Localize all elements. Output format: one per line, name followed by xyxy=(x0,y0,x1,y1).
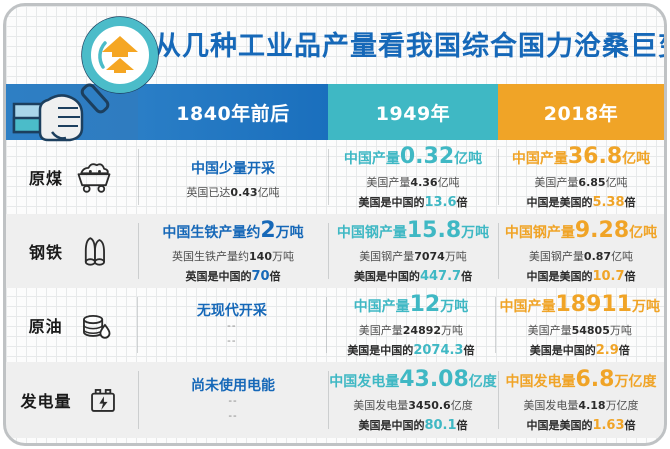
sub-pre: 中国是美国的 xyxy=(526,419,592,432)
sub-number: 6.85 xyxy=(578,176,605,189)
cell-sub-line-2: -- xyxy=(228,409,237,424)
cell-main-label: 中国产量 xyxy=(354,299,410,315)
cell-main-number: 6.8 xyxy=(576,367,615,392)
sub-post: 倍 xyxy=(625,419,636,432)
cell-main-line: 尚未使用电能 xyxy=(191,376,275,394)
cell-sub-line-2: 美国是中国的447.7倍 xyxy=(354,268,472,284)
sub-pre: 美国是中国的 xyxy=(530,344,596,357)
sub-number: 0.43 xyxy=(230,186,257,199)
row-label-cell: 原油 xyxy=(6,288,137,362)
cell-sub-line-1: 英国已达0.43亿吨 xyxy=(186,184,279,200)
page-title: 从几种工业品产量看我国综合国力沧桑巨变 xyxy=(154,24,664,63)
sub-post: 亿度 xyxy=(451,399,473,412)
cell-main-label: 中国少量开采 xyxy=(191,161,275,177)
cell-sub-line-1: 美国发电量3450.6亿度 xyxy=(353,397,472,413)
header-cell-era-2018: 2018年 xyxy=(498,84,664,140)
cell-sub-line-1: 美国产量54805万吨 xyxy=(528,322,632,338)
poster-inner-surface: 从几种工业品产量看我国综合国力沧桑巨变 1840年前后 1949年 2018年 xyxy=(6,6,664,443)
cell-sub-line-2: 中国是美国的1.63倍 xyxy=(526,417,635,433)
cell-main-label: 中国钢产量 xyxy=(337,225,407,241)
cell-sub-line-2: 中国是美国的10.7倍 xyxy=(526,268,635,284)
sub-ratio: 13.6 xyxy=(424,195,456,210)
cell-sub-line-1: -- xyxy=(227,319,236,334)
cell-sub-line-2: -- xyxy=(227,334,236,349)
cell-main-line: 中国生铁产量约2万吨 xyxy=(162,218,303,243)
sub-pre: 英国生铁产量约 xyxy=(172,250,249,263)
sub-pre: 美国钢产量 xyxy=(529,250,584,263)
sub-post: 倍 xyxy=(625,196,636,209)
sub-post: 倍 xyxy=(625,270,636,283)
cell-main-number: 43.08 xyxy=(399,367,469,392)
sub-number: 0.87 xyxy=(584,250,611,263)
cell-1840: 中国少量开采 英国已达0.43亿吨 xyxy=(138,140,328,214)
cell-2018: 中国发电量6.8万亿度 美国发电量4.18万亿度 中国是美国的1.63倍 xyxy=(498,362,664,438)
battery-bolt-icon xyxy=(82,383,124,417)
cell-1840: 中国生铁产量约2万吨 英国生铁产量约140万吨 英国是中国的70倍 xyxy=(138,214,328,288)
sub-pre: 美国产量 xyxy=(528,324,572,337)
cell-main-line: 无现代开采 xyxy=(197,301,267,319)
sub-pre: 美国产量 xyxy=(366,176,410,189)
sub-post: 亿吨 xyxy=(258,186,280,199)
cell-main-unit: 亿度 xyxy=(469,374,497,390)
sub-number: 140 xyxy=(249,250,272,263)
sub-post: 亿吨 xyxy=(606,176,628,189)
row-label-cell: 原煤 xyxy=(6,140,138,214)
sub-post: 万吨 xyxy=(610,324,632,337)
sub-post: 亿吨 xyxy=(438,176,460,189)
sub-pre: 美国是中国的 xyxy=(358,419,424,432)
cell-1840: 无现代开采 -- -- xyxy=(137,288,326,362)
cell-main-label: 中国产量 xyxy=(344,151,400,167)
cell-sub-line-1: 美国钢产量0.87亿吨 xyxy=(529,248,633,264)
cell-1949: 中国发电量43.08亿度 美国发电量3450.6亿度 美国是中国的80.1倍 xyxy=(328,362,498,438)
cell-main-number: 2 xyxy=(260,218,275,243)
sub-pre: 美国是中国的 xyxy=(347,344,413,357)
sub-post: 亿吨 xyxy=(611,250,633,263)
cell-main-line: 中国钢产量15.8万吨 xyxy=(337,218,489,243)
row-label: 原油 xyxy=(29,313,63,337)
row-label: 原煤 xyxy=(29,165,63,189)
sub-pre: 美国是中国的 xyxy=(354,270,420,283)
cell-sub-line-1: -- xyxy=(228,394,237,409)
cell-main-line: 中国产量0.32亿吨 xyxy=(344,144,482,169)
sub-number: 4.18 xyxy=(578,399,605,412)
cell-sub-line-2: 美国是中国的80.1倍 xyxy=(358,417,467,433)
sub-pre: 美国产量 xyxy=(359,324,403,337)
cell-sub-line-1: 美国产量24892万吨 xyxy=(359,322,463,338)
cell-main-line: 中国钢产量9.28亿吨 xyxy=(505,218,657,243)
cell-main-number: 36.8 xyxy=(568,144,622,169)
sub-number: 7074 xyxy=(414,250,445,263)
sub-post: 万吨 xyxy=(272,250,294,263)
sub-ratio: 2.9 xyxy=(596,343,619,358)
sub-post: 倍 xyxy=(463,344,474,357)
sub-ratio: 10.7 xyxy=(592,269,624,284)
cell-main-number: 18911 xyxy=(555,292,632,317)
cell-main-line: 中国产量12万吨 xyxy=(354,292,469,317)
sub-pre: 美国产量 xyxy=(534,176,578,189)
sub-pre: 英国是中国的 xyxy=(185,270,251,283)
sub-ratio: 447.7 xyxy=(420,269,461,284)
cell-main-number: 9.28 xyxy=(575,218,629,243)
cell-main-unit: 亿吨 xyxy=(622,151,650,167)
sub-ratio: 2074.3 xyxy=(413,343,463,358)
cell-1949: 中国产量12万吨 美国产量24892万吨 美国是中国的2074.3倍 xyxy=(326,288,495,362)
sub-post: 万吨 xyxy=(441,324,463,337)
cell-sub-line-1: 美国发电量4.18万亿度 xyxy=(523,397,638,413)
table-row: 发电量 尚未使用电能 -- -- xyxy=(6,362,664,438)
data-rows: 原煤 中国少量开采 英国已达0.43亿吨 xyxy=(6,140,664,443)
sub-pre: 美国钢产量 xyxy=(359,250,414,263)
table-row: 钢铁 中国生铁产量约2万吨 英国生铁产量约140万吨 xyxy=(6,214,664,288)
cell-1949: 中国钢产量15.8万吨 美国钢产量7074万吨 美国是中国的447.7倍 xyxy=(328,214,498,288)
cell-main-number: 15.8 xyxy=(407,218,461,243)
cell-sub-line-2: 美国是中国的2074.3倍 xyxy=(347,342,474,358)
sub-post: 万吨 xyxy=(445,250,467,263)
cell-sub-line-1: 美国钢产量7074万吨 xyxy=(359,248,467,264)
sub-ratio: 1.63 xyxy=(592,418,624,433)
cell-main-unit: 万吨 xyxy=(276,225,304,241)
cell-main-line: 中国产量18911万吨 xyxy=(499,292,660,317)
cell-main-unit: 亿吨 xyxy=(629,225,657,241)
sub-pre: 美国发电量 xyxy=(353,399,408,412)
row-label: 钢铁 xyxy=(29,239,63,263)
row-label-cell: 发电量 xyxy=(6,362,138,438)
cell-main-number: 12 xyxy=(410,292,441,317)
sub-post: 倍 xyxy=(457,196,468,209)
sub-number: 54805 xyxy=(572,324,610,337)
sub-number: 4.36 xyxy=(410,176,437,189)
cell-main-label: 中国钢产量 xyxy=(505,225,575,241)
header-cell-era-1949: 1949年 xyxy=(328,84,498,140)
cell-2018: 中国产量18911万吨 美国产量54805万吨 美国是中国的2.9倍 xyxy=(495,288,664,362)
header-cell-era-1840: 1840年前后 xyxy=(138,84,328,140)
sub-ratio: 5.38 xyxy=(592,195,624,210)
cell-main-unit: 万亿度 xyxy=(614,374,656,390)
table-row: 原煤 中国少量开采 英国已达0.43亿吨 xyxy=(6,140,664,214)
cell-main-label: 中国产量 xyxy=(512,151,568,167)
infographic-poster: 从几种工业品产量看我国综合国力沧桑巨变 1840年前后 1949年 2018年 xyxy=(0,0,670,449)
sub-pre: 美国发电量 xyxy=(523,399,578,412)
cell-main-label: 中国发电量 xyxy=(329,374,399,390)
cell-sub-line-2: 中国是美国的5.38倍 xyxy=(526,194,635,210)
cell-2018: 中国产量36.8亿吨 美国产量6.85亿吨 中国是美国的5.38倍 xyxy=(498,140,664,214)
cell-sub-line-1: 美国产量4.36亿吨 xyxy=(366,174,459,190)
cell-1949: 中国产量0.32亿吨 美国产量4.36亿吨 美国是中国的13.6倍 xyxy=(328,140,498,214)
hand-holding-icon xyxy=(12,86,120,146)
steel-rolls-icon xyxy=(73,234,115,268)
cell-main-unit: 万吨 xyxy=(632,299,660,315)
magnifier-hand-emblem xyxy=(58,10,166,136)
sub-post: 倍 xyxy=(619,344,630,357)
cell-1840: 尚未使用电能 -- -- xyxy=(138,362,328,438)
cell-main-label: 中国发电量 xyxy=(506,374,576,390)
sub-post: 倍 xyxy=(270,270,281,283)
sub-post: 倍 xyxy=(457,419,468,432)
cell-main-line: 中国少量开采 xyxy=(191,154,275,179)
sub-ratio: 80.1 xyxy=(424,418,456,433)
row-label-cell: 钢铁 xyxy=(6,214,138,288)
cell-main-label: 中国生铁产量约 xyxy=(162,225,260,241)
cell-sub-line-1: 英国生铁产量约140万吨 xyxy=(172,248,294,264)
sub-pre: 中国是美国的 xyxy=(526,196,592,209)
sub-post: 倍 xyxy=(461,270,472,283)
row-label: 发电量 xyxy=(20,388,71,412)
cell-sub-line-2: 美国是中国的13.6倍 xyxy=(358,194,467,210)
cell-main-line: 中国发电量43.08亿度 xyxy=(329,367,497,392)
sub-pre: 中国是美国的 xyxy=(526,270,592,283)
sub-pre: 英国已达 xyxy=(186,186,230,199)
coal-cart-icon xyxy=(73,160,115,194)
sub-number: 3450.6 xyxy=(408,399,450,412)
cell-sub-line-1: 美国产量6.85亿吨 xyxy=(534,174,627,190)
sub-number: 24892 xyxy=(403,324,441,337)
cell-main-label: 无现代开采 xyxy=(197,303,267,319)
sub-pre: 美国是中国的 xyxy=(358,196,424,209)
cell-sub-line-2: 美国是中国的2.9倍 xyxy=(530,342,630,358)
cell-main-label: 尚未使用电能 xyxy=(191,378,275,394)
oil-drum-icon xyxy=(73,308,115,342)
sub-post: 万亿度 xyxy=(606,399,639,412)
cell-main-unit: 万吨 xyxy=(461,225,489,241)
cell-sub-line-2: 英国是中国的70倍 xyxy=(185,268,280,284)
cell-2018: 中国钢产量9.28亿吨 美国钢产量0.87亿吨 中国是美国的10.7倍 xyxy=(498,214,664,288)
cell-main-line: 中国发电量6.8万亿度 xyxy=(506,367,657,392)
cell-main-line: 中国产量36.8亿吨 xyxy=(512,144,650,169)
table-row: 原油 无现代开采 -- -- xyxy=(6,288,664,362)
cell-main-unit: 万吨 xyxy=(440,299,468,315)
cell-main-number: 0.32 xyxy=(400,144,454,169)
cell-main-label: 中国产量 xyxy=(499,299,555,315)
cell-main-unit: 亿吨 xyxy=(454,151,482,167)
sub-ratio: 70 xyxy=(251,269,269,284)
